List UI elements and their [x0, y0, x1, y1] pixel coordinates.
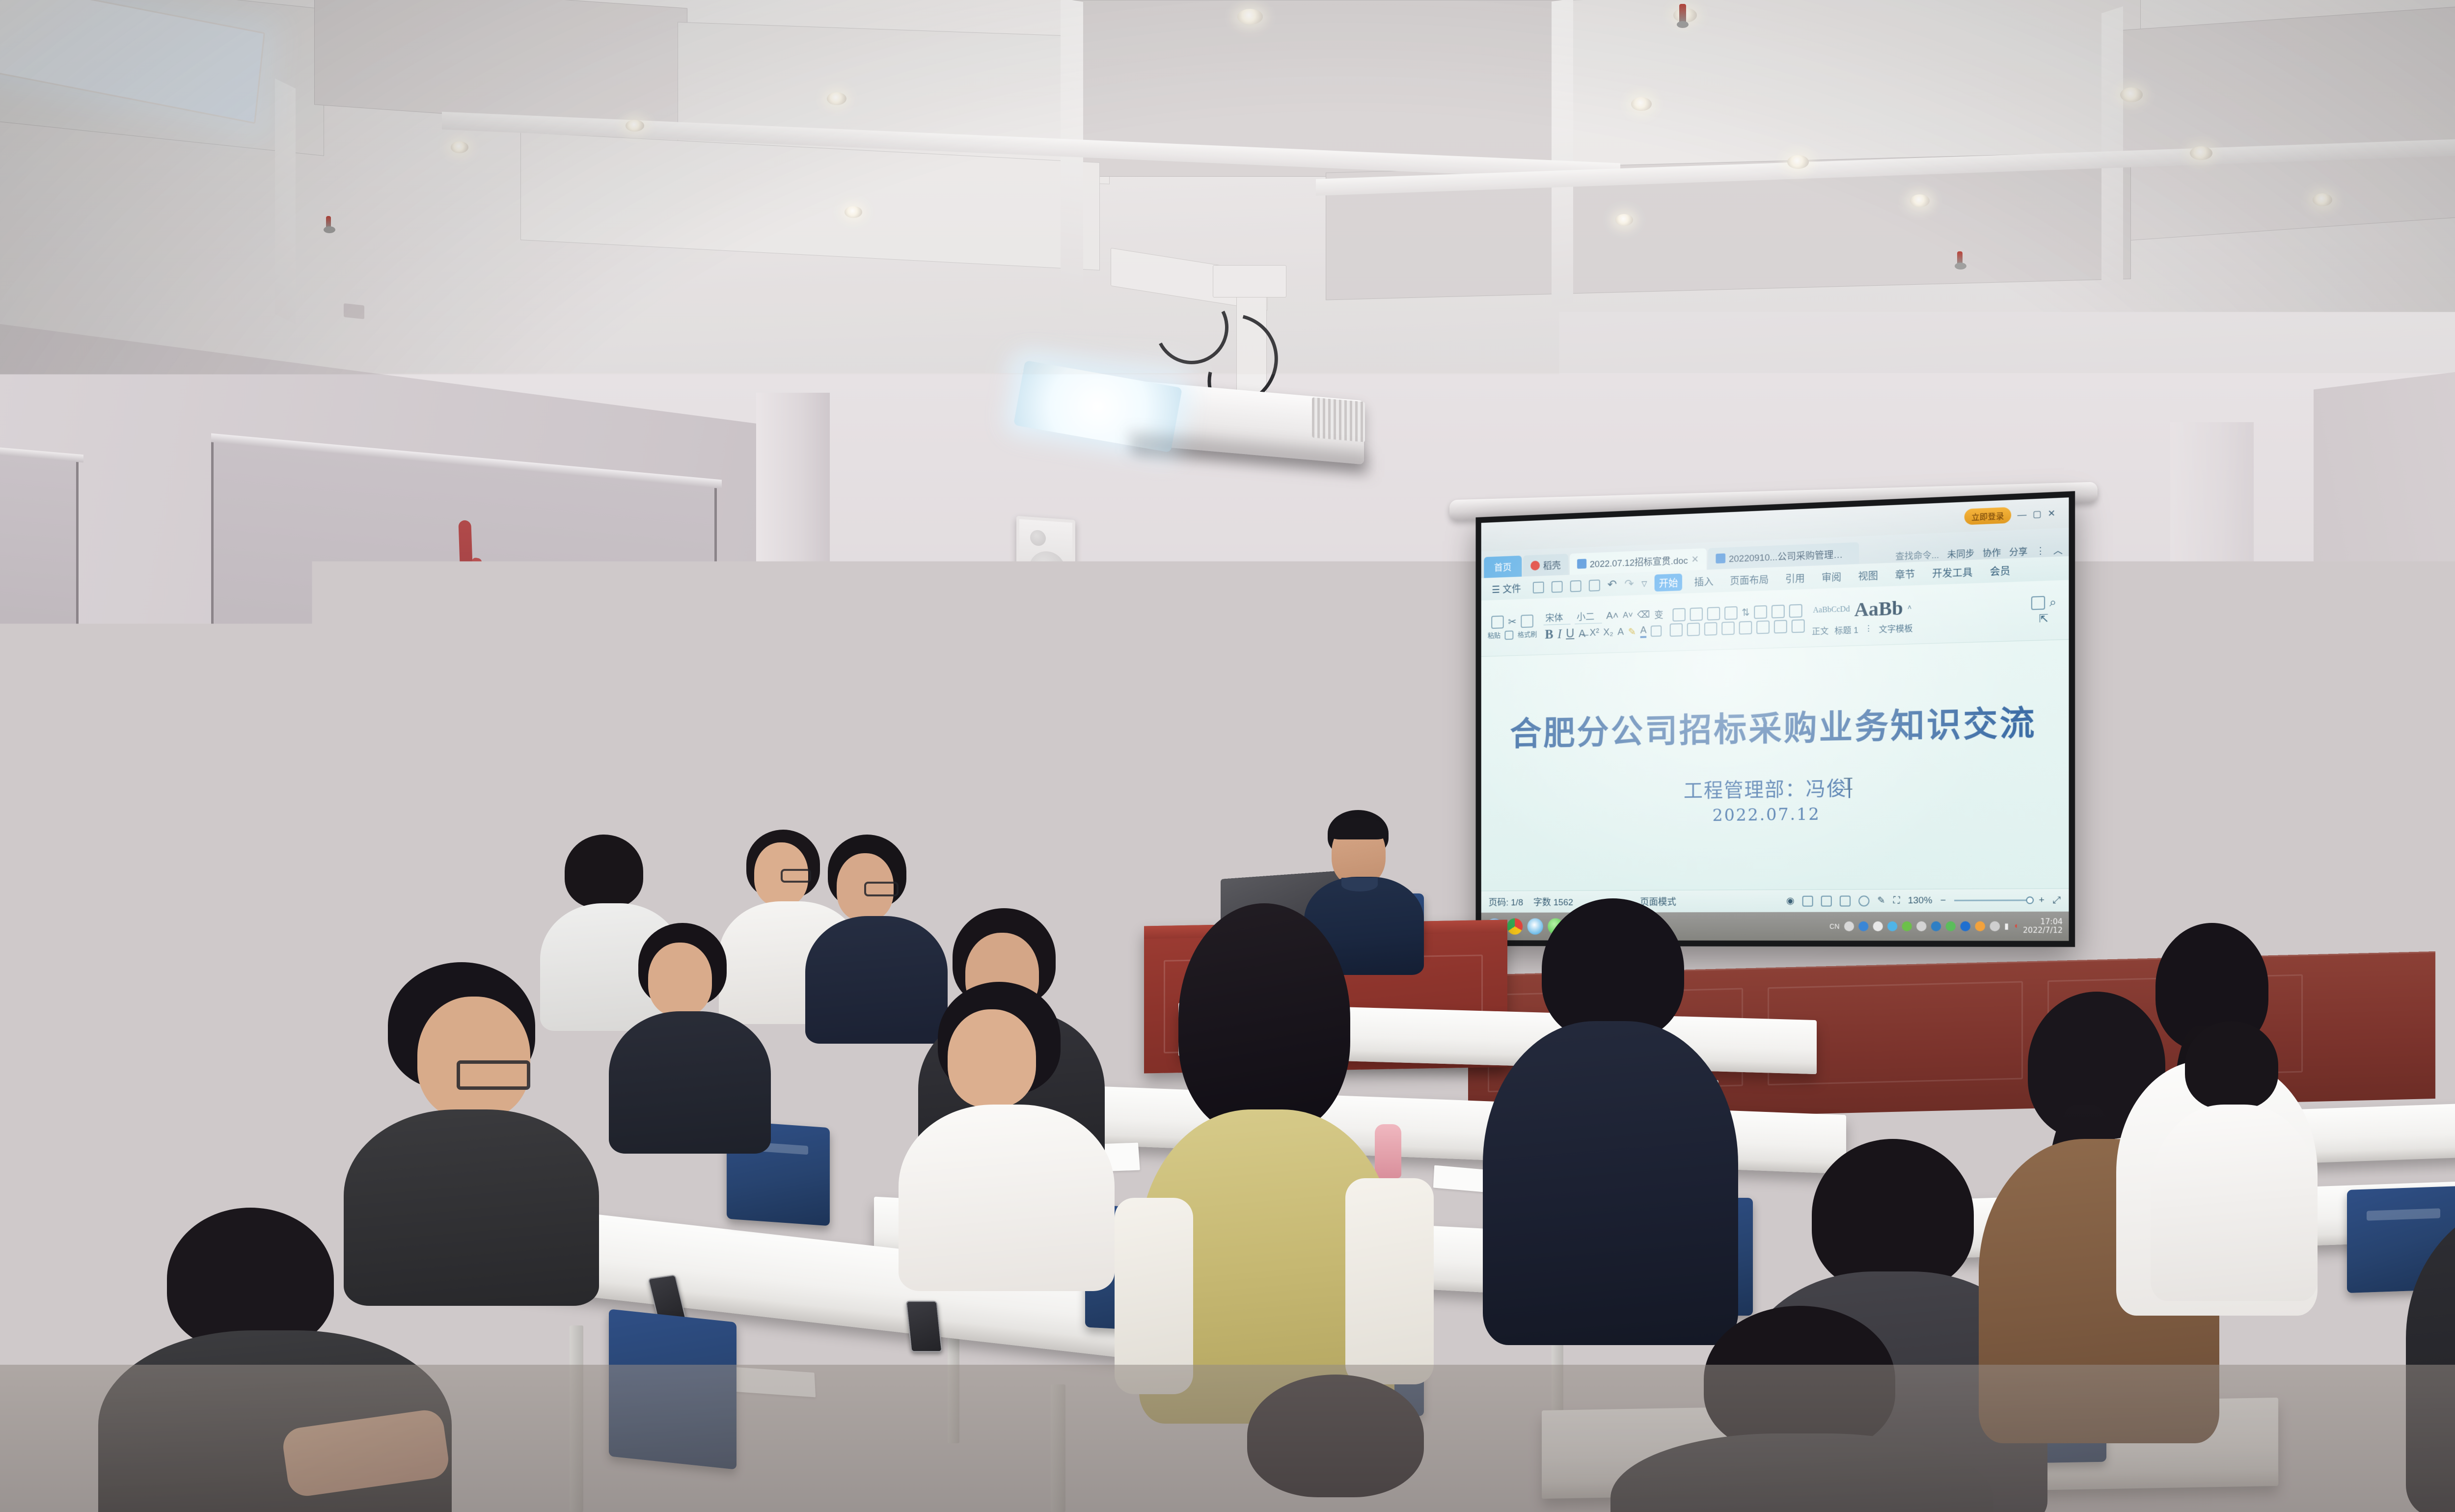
logo-blue-swoosh [417, 574, 511, 641]
wps-tab-label: 2022.07.12招标宣贯.doc [1590, 553, 1688, 570]
bluetooth-icon[interactable] [1960, 921, 1970, 931]
close-icon[interactable]: ✕ [2047, 508, 2055, 519]
attendee-hair [2185, 1021, 2278, 1109]
ceiling-beam-1 [275, 79, 296, 324]
format-painter-label[interactable]: 格式刷 [1518, 629, 1537, 640]
taskbar-time: 17:04 [2040, 917, 2062, 926]
speaker-woofer [1029, 550, 1065, 589]
font-family-select[interactable]: 宋体 [1544, 610, 1571, 625]
tray-icon-8[interactable] [1945, 921, 1956, 931]
doc-icon [1577, 559, 1586, 568]
decrease-indent-icon[interactable] [1707, 607, 1719, 621]
tray-icon-3[interactable] [1873, 921, 1882, 931]
attendee-right-navy-back [1483, 898, 1738, 1340]
superscript-icon[interactable]: X² [1590, 627, 1599, 639]
smartphone-1[interactable] [906, 1301, 943, 1352]
save-as-icon[interactable] [1551, 581, 1562, 593]
downlight-15 [1615, 214, 1633, 226]
document-outline-icon[interactable] [2031, 596, 2045, 610]
view-page-icon[interactable] [1802, 895, 1813, 906]
wps-tab-label: 稻壳 [1543, 558, 1561, 572]
text-effects-icon[interactable]: A [1617, 626, 1624, 638]
ac-display: 27 [856, 788, 899, 802]
attendee-torso [609, 1011, 771, 1154]
attendee-head [39, 949, 106, 1028]
fullscreen-icon[interactable]: ⤢ [2053, 894, 2061, 906]
logo-wrap: 安徽·安装 [214, 498, 714, 750]
spellcheck-icon[interactable]: ◉ [1786, 895, 1795, 907]
more-options-icon[interactable]: ⋮ [2036, 545, 2045, 556]
wps-account-badge[interactable]: 立即登录 [1964, 507, 2011, 525]
tray-icon-6[interactable] [1916, 921, 1926, 931]
font-group: 宋体 小二 A˄ A˅ ⌫ 变 B I U A̶ X² X₂ A [1544, 607, 1664, 642]
show-marks-icon[interactable] [1754, 605, 1768, 619]
align-left-icon[interactable] [1670, 623, 1683, 637]
downlight-1 [1237, 9, 1263, 25]
edit-pen-icon[interactable]: ✎ [1877, 895, 1885, 906]
align-center-icon[interactable] [1687, 622, 1700, 636]
ac-grille [829, 708, 925, 771]
attendee-head [107, 852, 156, 909]
paragraph-group: ⇅ [1670, 604, 1805, 637]
text-template-button[interactable]: 文字模板 [1879, 621, 1912, 634]
strikethrough-icon[interactable]: A̶ [1579, 627, 1585, 640]
view-web-icon[interactable] [1840, 895, 1851, 906]
attendee-near-podium-left [810, 835, 948, 1011]
presenter-collar [1341, 878, 1378, 891]
attendee-torso [2151, 1105, 2318, 1301]
attendee-glasses [457, 1060, 530, 1090]
increase-indent-icon[interactable] [1724, 606, 1738, 620]
bullet-list-icon[interactable] [1672, 608, 1685, 621]
undo-icon[interactable]: ↶ [1608, 577, 1617, 592]
wall-outlet[interactable] [344, 303, 364, 319]
distribute-icon[interactable] [1739, 621, 1752, 634]
tray-icon-7[interactable] [1931, 921, 1941, 931]
search-command-box[interactable]: 查找命令... [1895, 548, 1939, 563]
collab-button[interactable]: 协作 [1983, 545, 2001, 559]
attendee-glasses [213, 875, 241, 888]
ceiling-beam-4 [2101, 6, 2123, 288]
copy-icon[interactable] [1504, 630, 1513, 640]
wps-tab-label: 首页 [1494, 560, 1512, 574]
quick-access-more-icon[interactable]: ▽ [1641, 579, 1647, 588]
font-color-icon[interactable]: A [1640, 625, 1647, 638]
attendee-sleeve-right [1345, 1178, 1434, 1384]
document-subtitle: 工程管理部：冯俊 [1481, 769, 2069, 806]
ribbon-tab-review[interactable]: 审阅 [1817, 567, 1846, 586]
mouse-ibeam-cursor: ⌶ [1843, 775, 1854, 794]
ime-indicator[interactable]: CN [1829, 922, 1839, 930]
styles-group: AaBbCcDd AaBb ˄ 正文 标题 1 ⋮ 文字模板 [1812, 595, 1912, 636]
ribbon-tab-start[interactable]: 开始 [1655, 573, 1682, 592]
downlight-8 [451, 141, 468, 153]
tab-close-icon[interactable]: ✕ [1691, 554, 1699, 565]
attendee-hair [283, 884, 366, 967]
projection-screen-frame: 立即登录 — ▢ ✕ 首页 稻壳 2022.07.12招标宣贯.doc [1476, 491, 2075, 947]
sprinkler-head-2 [1957, 251, 1963, 265]
numbered-list-icon[interactable] [1690, 607, 1702, 621]
projector-vent [1312, 397, 1365, 442]
taskbar-date: 2022/7/12 [2023, 926, 2063, 935]
fit-page-icon[interactable]: ⛶ [1893, 895, 1900, 906]
zoom-slider[interactable] [1954, 899, 2031, 901]
document-date: 2022.07.12 [1481, 801, 2069, 828]
sprinkler-head-3 [326, 216, 331, 229]
document-subtitle-text: 工程管理部：冯俊 [1684, 778, 1847, 803]
sprinkler-head-1 [1679, 4, 1686, 24]
styles-expand-icon[interactable]: ˄ [1908, 603, 1911, 612]
sort-icon[interactable]: ⇅ [1742, 606, 1750, 619]
shrink-font-icon[interactable]: A˅ [1623, 610, 1633, 620]
borders-icon[interactable] [1792, 619, 1805, 633]
doc-icon [1716, 553, 1725, 564]
editing-group: ⌕ ⇱ [2031, 595, 2061, 625]
projected-desktop: 立即登录 — ▢ ✕ 首页 稻壳 2022.07.12招标宣贯.doc [1481, 497, 2069, 941]
speaker-tweeter [1030, 530, 1046, 546]
attendee-hair [1542, 898, 1684, 1041]
paste-icon[interactable] [1492, 616, 1504, 629]
view-outline-icon[interactable] [1821, 895, 1831, 906]
clipboard-group: ✂ 粘贴 格式刷 [1488, 615, 1537, 641]
paragraph-layout-icon[interactable] [1789, 604, 1802, 618]
attendee-head [187, 1065, 285, 1178]
banner-left-text: 装 [0, 640, 40, 703]
format-painter-icon[interactable] [1521, 615, 1533, 628]
share-button[interactable]: 分享 [2009, 544, 2028, 558]
redo-icon[interactable]: ↷ [1624, 577, 1634, 591]
italic-button[interactable]: I [1557, 626, 1562, 642]
style-more-icon[interactable]: ⋮ [1864, 623, 1873, 634]
attendee-center-row2 [609, 923, 771, 1149]
style-normal[interactable]: 正文 [1812, 624, 1828, 637]
ribbon-tab-devtools[interactable]: 开发工具 [1928, 563, 1977, 582]
clear-format-icon[interactable]: ⌫ [1637, 609, 1650, 621]
attendee-hair [565, 835, 643, 908]
attendee-head [417, 997, 530, 1119]
wall-speaker-left [1016, 516, 1075, 598]
banner-partial-left: 装 [0, 453, 79, 824]
downlight-5 [1631, 97, 1652, 111]
downlight-4 [2120, 87, 2143, 102]
style-heading1[interactable]: 标题 1 [1834, 623, 1858, 636]
ribbon-tab-member[interactable]: 会员 [1985, 561, 2015, 580]
line-spacing-2-icon[interactable] [1757, 620, 1770, 634]
network-icon[interactable]: ▮ [2004, 921, 2009, 932]
attendee-hair [167, 1208, 334, 1350]
print-preview-icon[interactable] [1588, 579, 1600, 591]
docer-icon [1530, 561, 1540, 570]
tab-docer[interactable]: 稻壳 [1523, 554, 1568, 577]
maximize-icon[interactable]: ▢ [2033, 509, 2042, 519]
ceiling-beam-2 [1061, 0, 1083, 316]
tray-icon-4[interactable] [1887, 921, 1897, 931]
zoom-out-icon[interactable]: − [1940, 895, 1946, 906]
bold-button[interactable]: B [1545, 627, 1554, 642]
cut-icon[interactable]: ✂ [1508, 615, 1516, 628]
attendee-head [948, 1009, 1036, 1107]
attendee-head [648, 943, 712, 1016]
shading-icon[interactable] [1774, 620, 1787, 633]
system-tray: CN ▮ ◖ 17:04 2022/7/12 [1829, 918, 2063, 935]
ribbon-tab-section[interactable]: 章节 [1890, 565, 1919, 583]
tray-icon-10[interactable] [1990, 921, 2000, 931]
find-replace-icon[interactable]: ⌕ [2049, 595, 2056, 610]
wps-tab-label: 20220910...公司采购管理办法 [1729, 547, 1851, 565]
attendee-white-blouse-center [894, 982, 1119, 1286]
style-sample-small[interactable]: AaBbCcDd [1813, 605, 1850, 615]
view-reading-icon[interactable] [1858, 895, 1869, 906]
floor [0, 1365, 2455, 1512]
text-box-icon[interactable] [1651, 625, 1662, 637]
attendee-right-white-far [2151, 1021, 2318, 1296]
attendee-torso [810, 909, 943, 1012]
anhui-anzhuang-logo-icon [415, 516, 513, 652]
downlight-14 [845, 206, 862, 218]
collapse-ribbon-icon[interactable]: ︿ [2053, 543, 2063, 557]
tray-icon-9[interactable] [1975, 921, 1985, 931]
ceiling-beam-3 [1552, 0, 1573, 306]
style-sample-big[interactable]: AaBb [1854, 596, 1903, 621]
highlight-icon[interactable]: ✎ [1628, 625, 1636, 638]
file-menu-button[interactable]: ☰ 文件 [1488, 579, 1526, 597]
ribbon-tab-references[interactable]: 引用 [1781, 569, 1809, 587]
ribbon-tab-pagelayout[interactable]: 页面布局 [1725, 570, 1773, 589]
downlight-7 [626, 120, 644, 132]
tray-icon-2[interactable] [1858, 921, 1868, 931]
attendee-torso [1483, 1021, 1738, 1345]
align-right-icon[interactable] [1704, 622, 1717, 636]
presenter-hair-front [1330, 818, 1387, 839]
grow-font-icon[interactable]: A˄ [1606, 610, 1618, 621]
zoom-level[interactable]: 130% [1908, 895, 1933, 906]
print-icon[interactable] [1570, 580, 1581, 592]
sync-status[interactable]: 未同步 [1947, 547, 1975, 561]
select-tool-icon[interactable]: ⇱ [2039, 612, 2048, 625]
ceiling-coffer-6 [2111, 0, 2455, 242]
align-justify-icon[interactable] [1722, 621, 1735, 635]
tray-icon-5[interactable] [1902, 921, 1911, 931]
downlight-13 [1910, 194, 1930, 207]
zoom-slider-knob[interactable] [2026, 896, 2034, 904]
paste-label[interactable]: 粘贴 [1488, 630, 1500, 640]
attendee-yellow-vest [1119, 903, 1424, 1443]
downlight-9 [1787, 155, 1809, 169]
downlight-10 [2190, 146, 2212, 160]
save-icon[interactable] [1532, 581, 1544, 593]
font-size-select[interactable]: 小二 [1575, 609, 1602, 624]
document-canvas[interactable]: 合肥分公司招标采购业务知识交流 工程管理部：冯俊 2022.07.12 ⌶ [1481, 640, 2069, 891]
line-spacing-icon[interactable] [1772, 604, 1785, 618]
attendee-hair [1812, 1139, 1974, 1291]
ribbon-tab-insert[interactable]: 插入 [1690, 572, 1718, 591]
zoom-in-icon[interactable]: + [2039, 894, 2045, 906]
downlight-12 [2313, 193, 2332, 206]
subscript-icon[interactable]: X₂ [1603, 627, 1613, 638]
attendee-torso [899, 1105, 1115, 1291]
underline-button[interactable]: U [1566, 626, 1574, 641]
attendee-head [839, 851, 893, 914]
banner-company-text: 安徽·安装 [214, 652, 714, 750]
attendee-hair [401, 864, 474, 938]
training-room-photo: 装 安徽·安装 [0, 0, 2455, 1512]
ribbon-tab-view[interactable]: 视图 [1854, 566, 1882, 584]
tab-home[interactable]: 首页 [1484, 556, 1522, 578]
attendee-hair [1178, 903, 1350, 1134]
downlight-6 [827, 92, 846, 105]
status-right-tools: ◉ ✎ ⛶ 130% − + ⤢ [1786, 894, 2061, 907]
projector-mount-bracket [1213, 265, 1286, 297]
tray-icon-1[interactable] [1844, 921, 1854, 931]
pinyin-guide-icon[interactable]: 变 [1654, 608, 1663, 621]
document-title: 合肥分公司招标采购业务知识交流 [1481, 694, 2069, 755]
taskbar-clock[interactable]: 17:04 2022/7/12 [2023, 918, 2063, 935]
volume-icon[interactable]: ◖ [2014, 922, 2019, 931]
minimize-icon[interactable]: — [2018, 509, 2027, 520]
